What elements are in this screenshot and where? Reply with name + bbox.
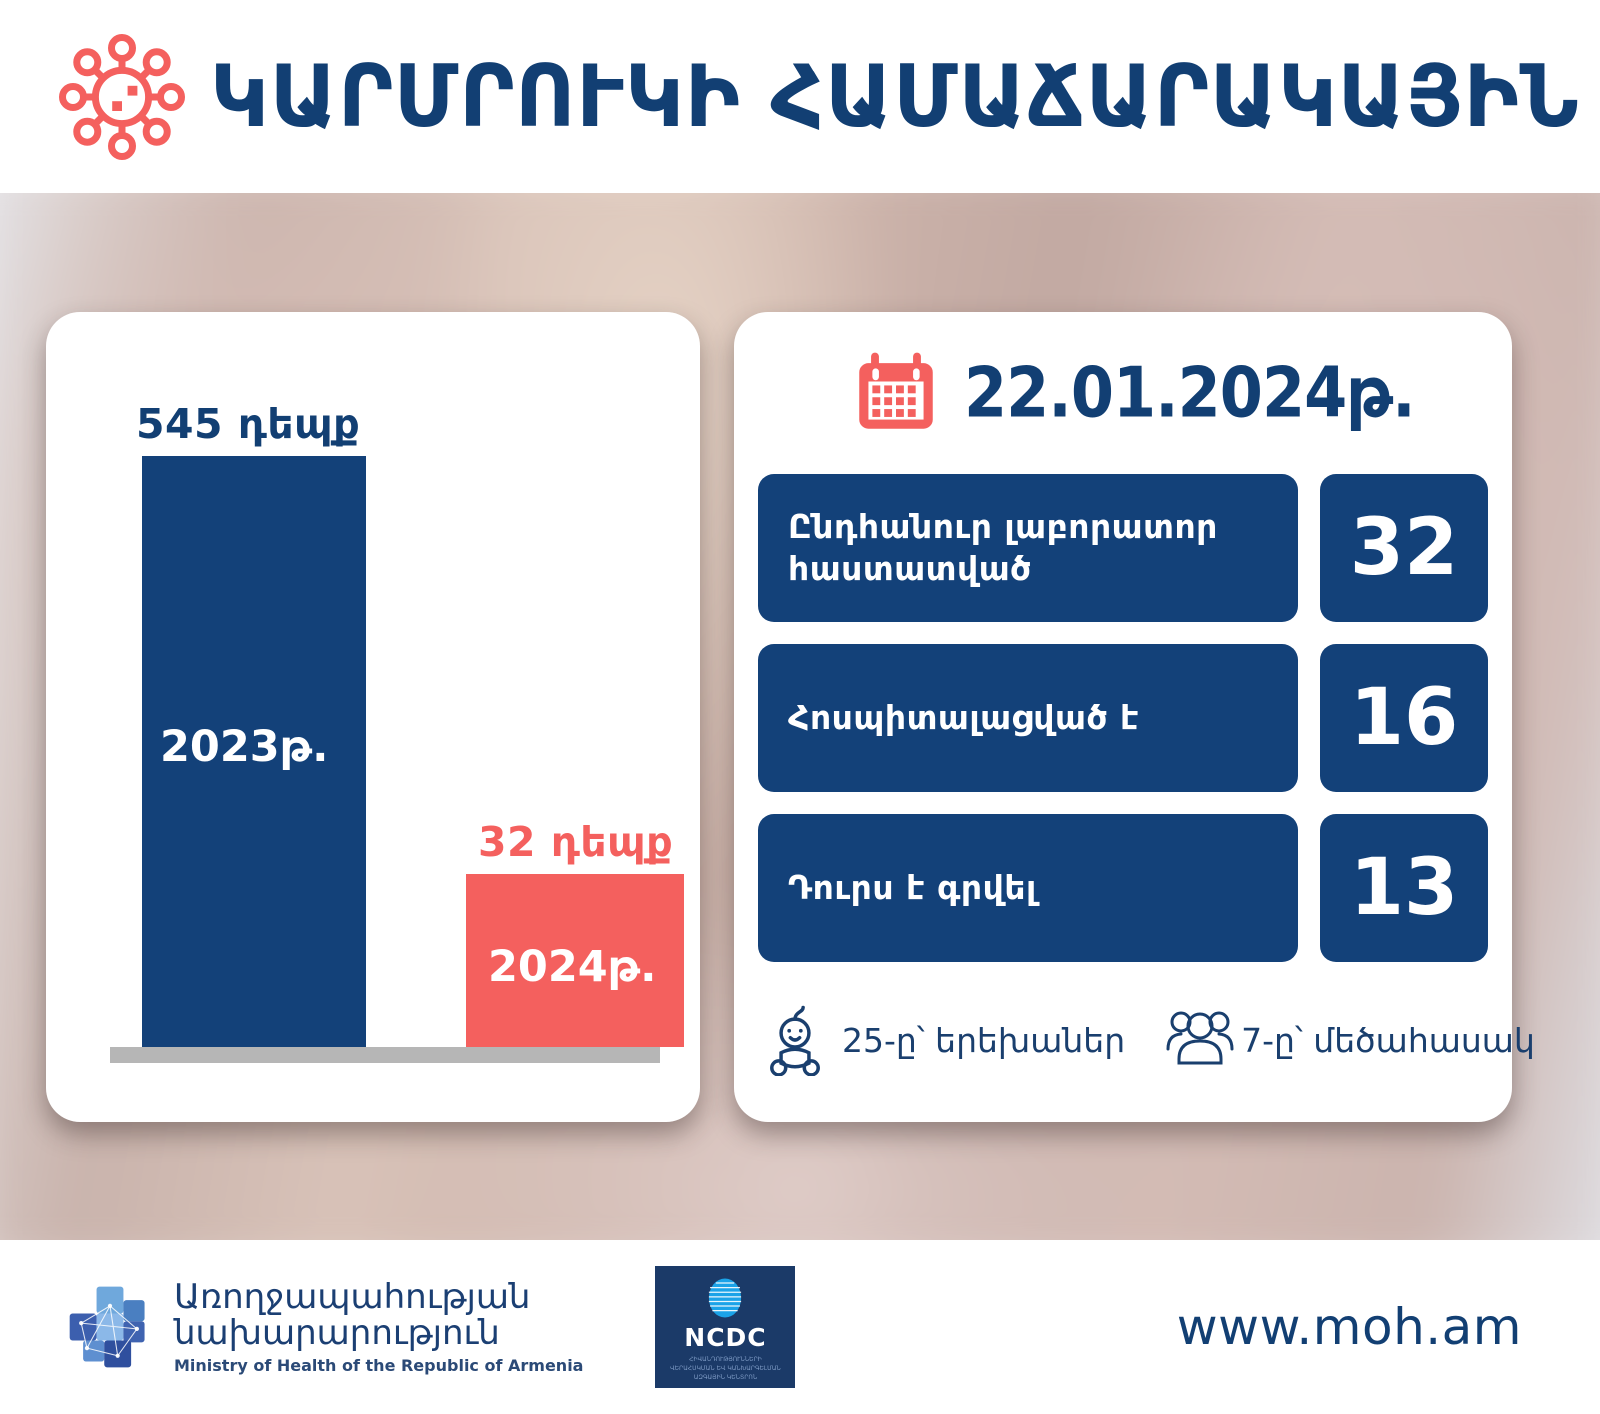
baby-icon xyxy=(764,1004,826,1076)
page-title: ԿԱՐՄՐՈՒԿԻ ՀԱՄԱՃԱՐԱԿԱՅԻՆ ԻՐԱՎԻՃԱԿ xyxy=(210,54,1600,140)
people-group-icon xyxy=(1163,1004,1225,1076)
bar-label-2024: 2024թ. xyxy=(488,942,657,992)
page-footer: Առողջապահության նախարարություն Ministry … xyxy=(0,1240,1600,1414)
ministry-name-english: Ministry of Health of the Republic of Ar… xyxy=(174,1358,583,1375)
stats-card: 22.01.2024թ. Ընդհանուր լաբորատոր հաստատվ… xyxy=(734,312,1512,1122)
bar-label-2023: 2023թ. xyxy=(160,722,329,772)
bar-chart: 545 դեպք 2023թ. 32 դեպք 2024թ. xyxy=(46,312,700,1122)
ncdc-tagline: ՀԻՎԱՆԴՈՒԹՅՈՒՆՆԵՐԻ ՎԵՐԱՀՍԿՄԱՆ ԵՎ ԿԱՆԽԱՐԳԵ… xyxy=(666,1356,784,1382)
ministry-cross-icon xyxy=(62,1279,158,1375)
bar-value-2023: 545 դեպք xyxy=(136,400,360,448)
stat-rows: Ընդհանուր լաբորատոր հաստատված 32 Հոսպիտա… xyxy=(758,474,1488,984)
stat-label: Դուրս է գրվել xyxy=(758,814,1298,962)
footnotes: 25-ը՝ երեխաներ 7-ը՝ մեծահասակ xyxy=(764,1004,1535,1076)
chart-baseline xyxy=(110,1047,660,1063)
report-date: 22.01.2024թ. xyxy=(964,351,1415,433)
ncdc-wordmark: NCDC xyxy=(684,1323,766,1352)
ministry-logo-text: Առողջապահության նախարարություն Ministry … xyxy=(174,1279,583,1375)
stat-row-total-confirmed: Ընդհանուր լաբորատոր հաստատված 32 xyxy=(758,474,1488,622)
footnote-children: 25-ը՝ երեխաներ xyxy=(764,1004,1125,1076)
ministry-of-health-logo: Առողջապահության նախարարություն Ministry … xyxy=(62,1279,583,1375)
ministry-name-line1: Առողջապահության xyxy=(174,1279,583,1315)
stat-value: 32 xyxy=(1320,474,1488,622)
stat-row-discharged: Դուրս է գրվել 13 xyxy=(758,814,1488,962)
ncdc-logo: NCDC ՀԻՎԱՆԴՈՒԹՅՈՒՆՆԵՐԻ ՎԵՐԱՀՍԿՄԱՆ ԵՎ ԿԱՆ… xyxy=(655,1266,795,1388)
ministry-name-line2: նախարարություն xyxy=(174,1315,583,1351)
footnote-adults: 7-ը՝ մեծահասակ xyxy=(1163,1004,1535,1076)
virus-icon xyxy=(52,27,192,167)
footnote-text: 25-ը՝ երեխաներ xyxy=(842,1021,1125,1060)
stat-row-hospitalized: Հոսպիտալացված է 16 xyxy=(758,644,1488,792)
page-header: ԿԱՐՄՐՈՒԿԻ ՀԱՄԱՃԱՐԱԿԱՅԻՆ ԻՐԱՎԻՃԱԿ xyxy=(0,0,1600,193)
calendar-icon xyxy=(854,350,938,434)
stat-value: 13 xyxy=(1320,814,1488,962)
website-url[interactable]: www.moh.am xyxy=(1177,1298,1522,1356)
globe-icon xyxy=(702,1275,748,1321)
chart-card: 545 դեպք 2023թ. 32 դեպք 2024թ. xyxy=(46,312,700,1122)
date-row: 22.01.2024թ. xyxy=(854,350,1415,434)
footnote-text: 7-ը՝ մեծահասակ xyxy=(1241,1021,1535,1060)
bar-value-2024: 32 դեպք xyxy=(478,818,673,866)
stat-value: 16 xyxy=(1320,644,1488,792)
stat-label: Ընդհանուր լաբորատոր հաստատված xyxy=(758,474,1298,622)
stat-label: Հոսպիտալացված է xyxy=(758,644,1298,792)
